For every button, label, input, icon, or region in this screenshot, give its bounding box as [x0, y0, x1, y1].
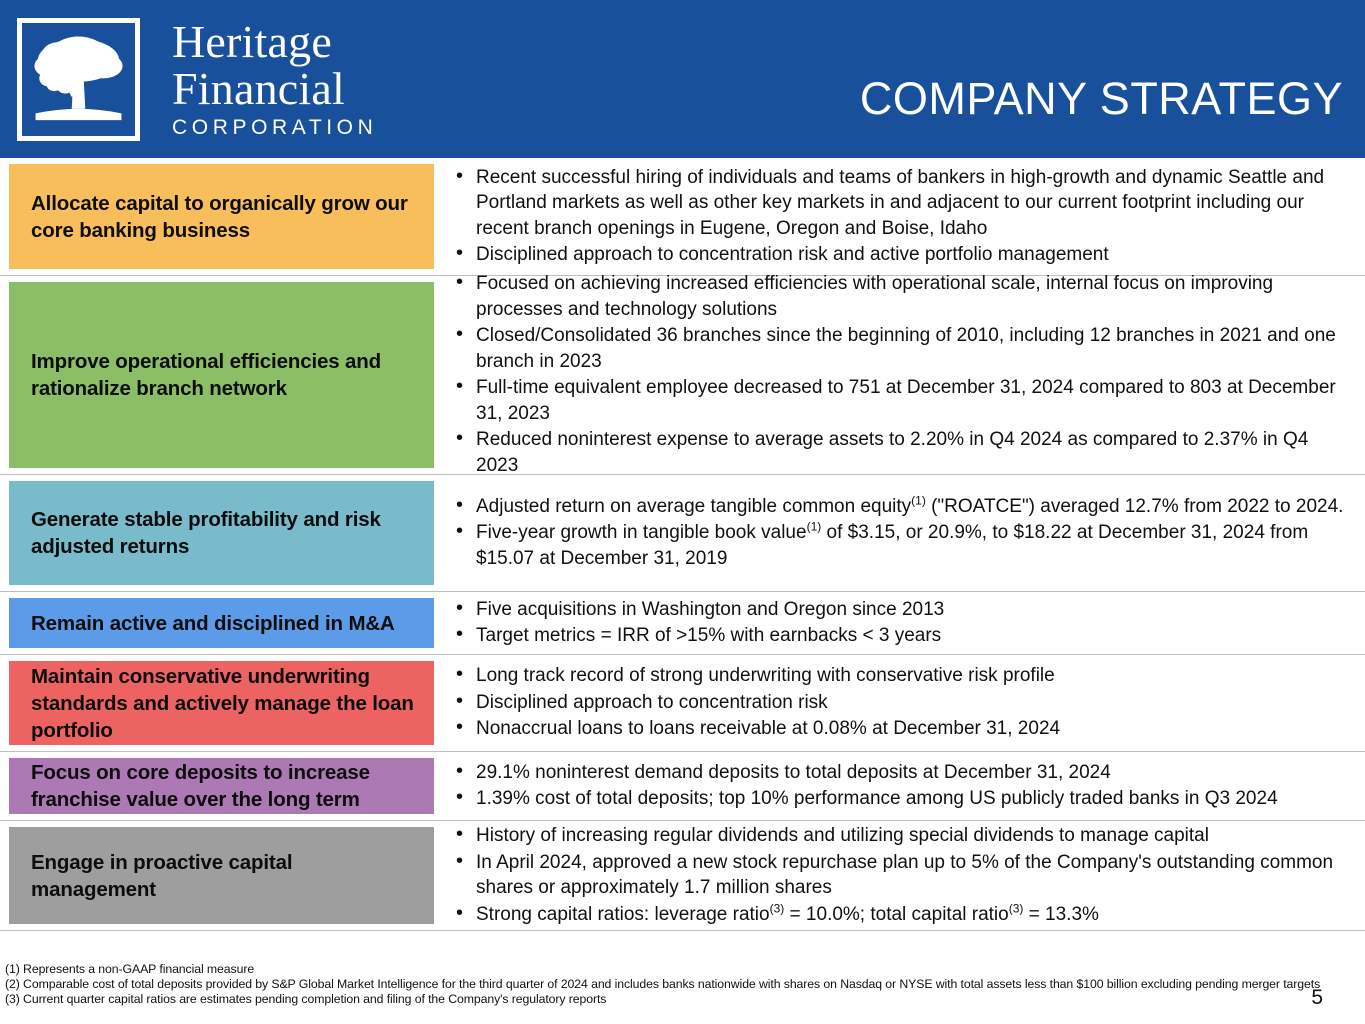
- category-cell: Remain active and disciplined in M&A: [0, 592, 442, 654]
- footnotes: (1) Represents a non-GAAP financial meas…: [0, 957, 1365, 1024]
- bullets-cell: Adjusted return on average tangible comm…: [442, 475, 1365, 591]
- bullets-cell: History of increasing regular dividends …: [442, 821, 1365, 930]
- list-item: Five-year growth in tangible book value(…: [448, 520, 1347, 571]
- list-item: Reduced noninterest expense to average a…: [448, 427, 1347, 478]
- category-cell: Improve operational efficiencies and rat…: [0, 276, 442, 474]
- page-number: 5: [1311, 986, 1323, 1010]
- list-item: Nonaccrual loans to loans receivable at …: [448, 716, 1347, 742]
- footnote-2: (2) Comparable cost of total deposits pr…: [5, 977, 1365, 992]
- slide-header: Heritage Financial CORPORATION COMPANY S…: [0, 0, 1365, 158]
- bullet-list: Adjusted return on average tangible comm…: [448, 494, 1347, 573]
- category-chip-stable-profitability: Generate stable profitability and risk a…: [9, 481, 434, 585]
- bullets-cell: Focused on achieving increased efficienc…: [442, 276, 1365, 474]
- bullets-cell: Recent successful hiring of individuals …: [442, 158, 1365, 275]
- table-row: Improve operational efficiencies and rat…: [0, 276, 1365, 475]
- list-item: History of increasing regular dividends …: [448, 823, 1347, 849]
- list-item: Full-time equivalent employee decreased …: [448, 375, 1347, 426]
- category-chip-underwriting-standards: Maintain conservative underwriting stand…: [9, 661, 434, 745]
- list-item: 29.1% noninterest demand deposits to tot…: [448, 760, 1347, 786]
- company-logo: Heritage Financial CORPORATION: [0, 18, 377, 141]
- bullets-cell: Long track record of strong underwriting…: [442, 655, 1365, 751]
- list-item: Closed/Consolidated 36 branches since th…: [448, 323, 1347, 374]
- category-chip-allocate-capital: Allocate capital to organically grow our…: [9, 164, 434, 269]
- list-item: Five acquisitions in Washington and Oreg…: [448, 597, 1347, 623]
- slide: Heritage Financial CORPORATION COMPANY S…: [0, 0, 1365, 1024]
- table-row: Allocate capital to organically grow our…: [0, 158, 1365, 276]
- category-chip-m-and-a: Remain active and disciplined in M&A: [9, 598, 434, 648]
- list-item: Disciplined approach to concentration ri…: [448, 242, 1347, 268]
- list-item: Disciplined approach to concentration ri…: [448, 690, 1347, 716]
- logo-line-1: Heritage: [172, 18, 377, 65]
- list-item: Target metrics = IRR of >15% with earnba…: [448, 623, 1347, 649]
- list-item: Adjusted return on average tangible comm…: [448, 494, 1347, 520]
- page-title: COMPANY STRATEGY: [860, 74, 1343, 124]
- bullet-list: History of increasing regular dividends …: [448, 823, 1347, 928]
- category-chip-operational-efficiencies: Improve operational efficiencies and rat…: [9, 282, 434, 468]
- logo-line-2: Financial: [172, 65, 377, 112]
- category-cell: Focus on core deposits to increase franc…: [0, 752, 442, 820]
- category-cell: Allocate capital to organically grow our…: [0, 158, 442, 275]
- logo-line-3: CORPORATION: [172, 115, 377, 141]
- bullet-list: Recent successful hiring of individuals …: [448, 165, 1347, 269]
- category-cell: Maintain conservative underwriting stand…: [0, 655, 442, 751]
- table-row: Remain active and disciplined in M&A Fiv…: [0, 592, 1365, 655]
- bullet-list: Focused on achieving increased efficienc…: [448, 271, 1347, 479]
- tree-logo-icon: [17, 18, 140, 141]
- bullet-list: Five acquisitions in Washington and Oreg…: [448, 597, 1347, 650]
- category-chip-capital-management: Engage in proactive capital management: [9, 827, 434, 924]
- table-row: Focus on core deposits to increase franc…: [0, 752, 1365, 821]
- list-item: In April 2024, approved a new stock repu…: [448, 850, 1347, 901]
- list-item: Strong capital ratios: leverage ratio(3)…: [448, 902, 1347, 928]
- bullets-cell: Five acquisitions in Washington and Oreg…: [442, 592, 1365, 654]
- list-item: Focused on achieving increased efficienc…: [448, 271, 1347, 322]
- category-cell: Engage in proactive capital management: [0, 821, 442, 930]
- bullet-list: Long track record of strong underwriting…: [448, 663, 1347, 743]
- footnote-1: (1) Represents a non-GAAP financial meas…: [5, 962, 1365, 977]
- list-item: Recent successful hiring of individuals …: [448, 165, 1347, 242]
- table-row: Generate stable profitability and risk a…: [0, 475, 1365, 592]
- category-chip-core-deposits: Focus on core deposits to increase franc…: [9, 758, 434, 814]
- category-cell: Generate stable profitability and risk a…: [0, 475, 442, 591]
- bullets-cell: 29.1% noninterest demand deposits to tot…: [442, 752, 1365, 820]
- list-item: 1.39% cost of total deposits; top 10% pe…: [448, 786, 1347, 812]
- table-row: Engage in proactive capital management H…: [0, 821, 1365, 931]
- table-row: Maintain conservative underwriting stand…: [0, 655, 1365, 752]
- strategy-table: Allocate capital to organically grow our…: [0, 158, 1365, 955]
- logo-wordmark: Heritage Financial CORPORATION: [172, 18, 377, 141]
- bullet-list: 29.1% noninterest demand deposits to tot…: [448, 760, 1347, 813]
- footnote-3: (3) Current quarter capital ratios are e…: [5, 992, 1365, 1007]
- list-item: Long track record of strong underwriting…: [448, 663, 1347, 689]
